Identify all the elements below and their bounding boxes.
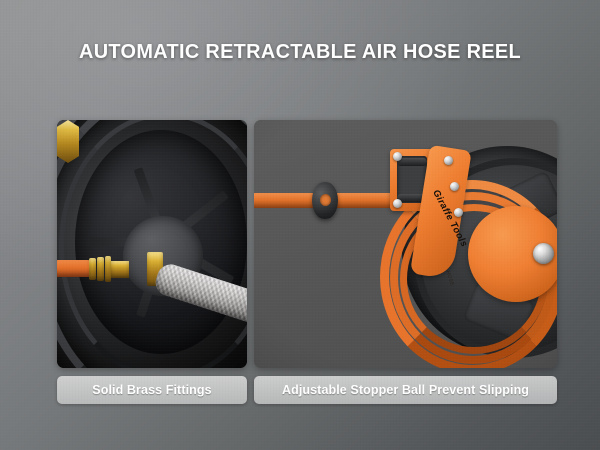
brass-strain-relief-coil (89, 258, 96, 280)
feature-image-adjustable-stopper-ball: GIRAFFE TOOLS AIR HOSE Giraffe Tools (254, 120, 557, 368)
stopper-ball-bore (320, 194, 331, 206)
brass-strain-relief-coil (97, 257, 104, 281)
bracket-bolt (393, 152, 402, 161)
brass-hex-nut (57, 120, 79, 163)
hose-guide-roller (397, 158, 427, 166)
caption-adjustable-stopper-ball: Adjustable Stopper Ball Prevent Slipping (254, 376, 557, 404)
orange-air-hose (57, 260, 91, 277)
page-title: AUTOMATIC RETRACTABLE AIR HOSE REEL (9, 40, 591, 64)
bracket-bolt (393, 199, 402, 208)
caption-label: Adjustable Stopper Ball Prevent Slipping (282, 383, 529, 397)
arm-bolt (450, 182, 459, 191)
caption-label: Solid Brass Fittings (92, 383, 211, 397)
reel-center-bolt (533, 243, 554, 264)
arm-bolt (444, 156, 453, 165)
feature-image-solid-brass-fittings (57, 120, 247, 368)
arm-bolt (454, 208, 463, 217)
brass-stem (111, 261, 129, 278)
product-feature-banner: AUTOMATIC RETRACTABLE AIR HOSE REEL (0, 0, 600, 450)
caption-solid-brass-fittings: Solid Brass Fittings (57, 376, 247, 404)
